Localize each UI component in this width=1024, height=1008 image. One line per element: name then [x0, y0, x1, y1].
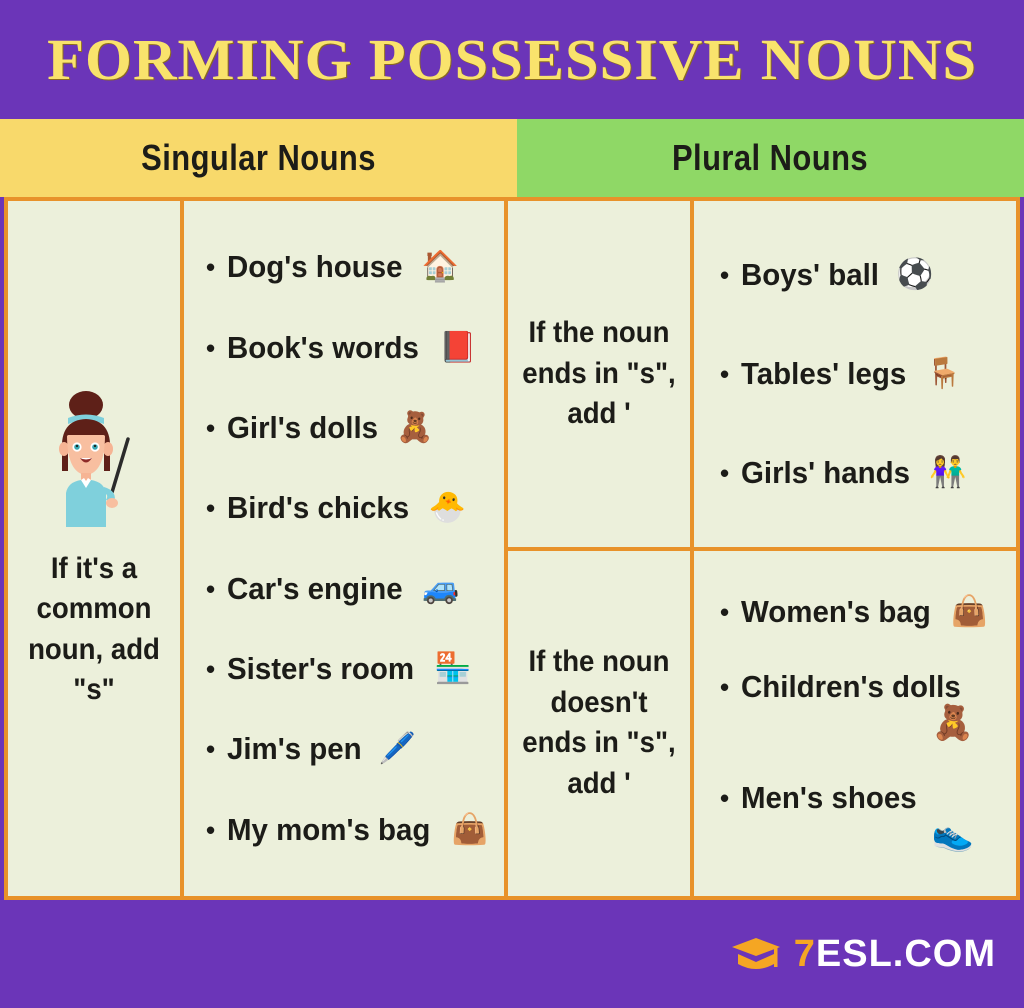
plural-rule-text-1: If the noun ends in "s", add ' — [521, 313, 677, 435]
example-label: Tables' legs — [741, 357, 906, 391]
logo-seven: 7 — [794, 933, 816, 975]
example-label: Girls' hands — [741, 456, 910, 490]
bullet-icon: • — [206, 335, 215, 361]
logo-wordmark: 7ESL.COM — [794, 933, 996, 976]
list-item: • Bird's chicks 🐣 — [206, 491, 498, 525]
footer-bar: 7ESL.COM — [0, 900, 1024, 1008]
bullet-icon: • — [720, 674, 729, 700]
list-item: • Children's dolls 🧸 — [720, 670, 1010, 740]
example-label: Car's engine — [227, 572, 403, 606]
title-banner: FORMING POSSESSIVE NOUNS — [0, 0, 1024, 119]
plural-row-not-ends-in-s: If the noun doesn't ends in "s", add ' •… — [508, 551, 1016, 897]
hatching-chick-emoji: 🐣 — [429, 493, 466, 523]
bullet-icon: • — [206, 656, 215, 682]
list-item: • My mom's bag 👜 — [206, 813, 498, 847]
example-label: Children's dolls — [741, 670, 961, 704]
list-item: • Girls' hands 👫 — [720, 456, 1010, 490]
header-plural-label: Plural Nouns — [672, 137, 868, 179]
column-header-row: Singular Nouns Plural Nouns — [0, 119, 1024, 197]
bullet-icon: • — [206, 817, 215, 843]
example-line: • Men's shoes — [720, 781, 1010, 815]
page-title: FORMING POSSESSIVE NOUNS — [47, 26, 977, 93]
infographic-page: FORMING POSSESSIVE NOUNS Singular Nouns … — [0, 0, 1024, 1008]
list-item: • Jim's pen 🖊️ — [206, 732, 498, 766]
example-label: Dog's house — [227, 250, 403, 284]
dog-house-emoji: 🏠 — [422, 252, 459, 282]
header-singular-nouns: Singular Nouns — [0, 119, 517, 197]
bullet-icon: • — [206, 576, 215, 602]
table-emoji: 🪑 — [925, 359, 962, 389]
graduation-cap-icon — [730, 934, 782, 974]
bullet-icon: • — [206, 415, 215, 441]
list-item: • Boys' ball ⚽ — [720, 258, 1010, 292]
singular-rule-text: If it's a common noun, add "s" — [19, 549, 170, 711]
plural-side: If the noun ends in "s", add ' • Boys' b… — [508, 201, 1016, 896]
list-item: • Car's engine 🚙 — [206, 572, 498, 606]
teacher-with-pointer-illustration — [42, 387, 146, 527]
plural-rule-cell-2: If the noun doesn't ends in "s", add ' — [508, 551, 694, 897]
store-front-emoji: 🏪 — [434, 654, 471, 684]
bullet-icon: • — [720, 599, 729, 625]
teddy-bear-emoji: 🧸 — [720, 706, 1010, 740]
list-item: • Women's bag 👜 — [720, 595, 1010, 629]
example-label: Book's words — [227, 331, 419, 365]
header-singular-label: Singular Nouns — [141, 137, 376, 179]
singular-rule-cell: If it's a common noun, add "s" — [8, 201, 184, 896]
list-item: • Girl's dolls 🧸 — [206, 411, 498, 445]
handbag-emoji: 👜 — [451, 815, 488, 845]
list-item: • Sister's room 🏪 — [206, 652, 498, 686]
plural-rule-cell-1: If the noun ends in "s", add ' — [508, 201, 694, 547]
closed-book-emoji: 📕 — [439, 333, 476, 363]
header-plural-nouns: Plural Nouns — [517, 119, 1024, 197]
bullet-icon: • — [206, 254, 215, 280]
example-label: Sister's room — [227, 652, 414, 686]
bullet-icon: • — [206, 495, 215, 521]
bullet-icon: • — [720, 785, 729, 811]
bullet-icon: • — [720, 361, 729, 387]
possessive-nouns-table: If it's a common noun, add "s" • Dog's h… — [4, 197, 1020, 900]
plural-row-ends-in-s: If the noun ends in "s", add ' • Boys' b… — [508, 201, 1016, 551]
example-label: Boys' ball — [741, 258, 879, 292]
soccer-ball-emoji: ⚽ — [896, 260, 933, 290]
bullet-icon: • — [720, 460, 729, 486]
site-logo[interactable]: 7ESL.COM — [730, 933, 996, 976]
example-line: • Children's dolls — [720, 670, 1010, 704]
two-children-emoji: 👫 — [929, 458, 966, 488]
list-item: • Dog's house 🏠 — [206, 250, 498, 284]
pen-emoji: 🖊️ — [379, 734, 416, 764]
example-label: Men's shoes — [741, 781, 917, 815]
plural-rule-text-2: If the noun doesn't ends in "s", add ' — [521, 642, 677, 804]
sneaker-emoji: 👟 — [720, 817, 1010, 851]
car-emoji: 🚙 — [422, 574, 459, 604]
singular-examples-cell: • Dog's house 🏠 • Book's words 📕 • Girl'… — [184, 201, 508, 896]
example-label: Women's bag — [741, 595, 931, 629]
bullet-icon: • — [720, 262, 729, 288]
handbag-emoji: 👜 — [951, 597, 988, 627]
plural-examples-cell-1: • Boys' ball ⚽ • Tables' legs 🪑 • Girls'… — [694, 201, 1016, 547]
plural-examples-cell-2: • Women's bag 👜 • Children's dolls 🧸 — [694, 551, 1016, 897]
example-label: Jim's pen — [227, 732, 362, 766]
example-label: Girl's dolls — [227, 411, 378, 445]
list-item: • Tables' legs 🪑 — [720, 357, 1010, 391]
bullet-icon: • — [206, 736, 215, 762]
logo-esl-com: ESL.COM — [816, 933, 996, 975]
example-label: My mom's bag — [227, 813, 430, 847]
teddy-bear-emoji: 🧸 — [396, 413, 433, 443]
list-item: • Men's shoes 👟 — [720, 781, 1010, 851]
example-label: Bird's chicks — [227, 491, 409, 525]
list-item: • Book's words 📕 — [206, 331, 498, 365]
